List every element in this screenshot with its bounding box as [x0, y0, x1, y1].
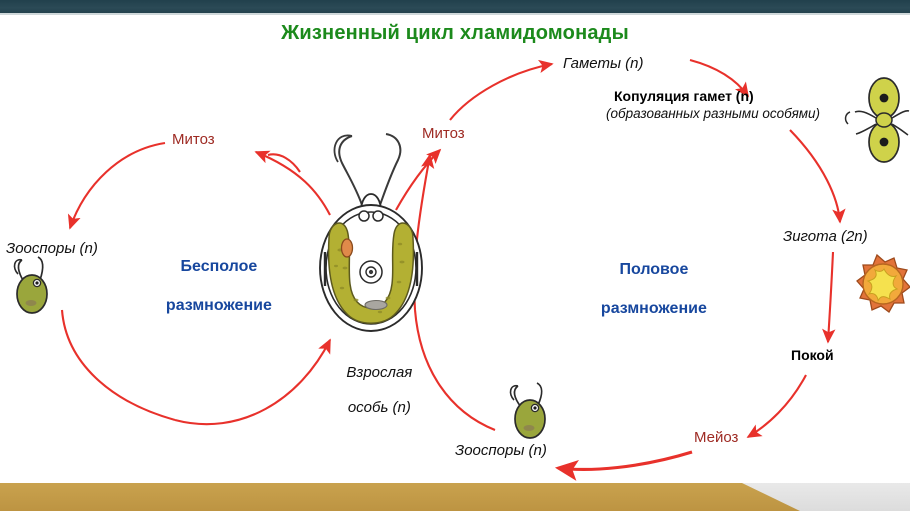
adult-chlamydomonas	[320, 134, 422, 331]
zoospore-left-cell	[15, 257, 47, 313]
heading-sexual-line1: Половое	[619, 261, 688, 278]
label-meiosis: Мейоз	[694, 429, 738, 446]
label-mitosis-left: Митоз	[172, 131, 215, 148]
heading-sexual-reproduction: Половое размножение	[565, 240, 725, 338]
label-zoospores-bottom: Зооспоры (n)	[455, 442, 547, 459]
label-adult-individual: Взрослая особь (n)	[306, 347, 436, 433]
gamete-pair-copulating-cells	[846, 78, 909, 162]
label-zoospores-left: Зооспоры (n)	[6, 240, 98, 257]
label-copulation-main: Копуляция гамет (n)	[614, 88, 754, 104]
heading-asexual-reproduction: Бесполое размножение	[130, 237, 290, 335]
heading-asexual-line2: размножение	[166, 297, 272, 314]
slide-canvas: Жизненный цикл хламидомонады Митоз Зоосп…	[0, 0, 910, 511]
label-mitosis-right: Митоз	[422, 125, 465, 142]
label-adult-line2: особь (n)	[348, 399, 411, 416]
label-adult-line1: Взрослая	[346, 364, 412, 381]
label-rest: Покой	[791, 347, 834, 363]
zygote-spiky-cell	[857, 255, 910, 312]
heading-asexual-line1: Бесполое	[181, 258, 258, 275]
label-gametes: Гаметы (n)	[563, 55, 644, 72]
label-zygote: Зигота (2n)	[783, 228, 868, 245]
label-copulation-sub: (образованных разными особями)	[606, 106, 820, 122]
heading-sexual-line2: размножение	[601, 300, 707, 317]
page-title: Жизненный цикл хламидомонады	[0, 22, 910, 45]
zoospore-bottom-cell	[511, 383, 545, 438]
eyespot	[342, 239, 353, 257]
